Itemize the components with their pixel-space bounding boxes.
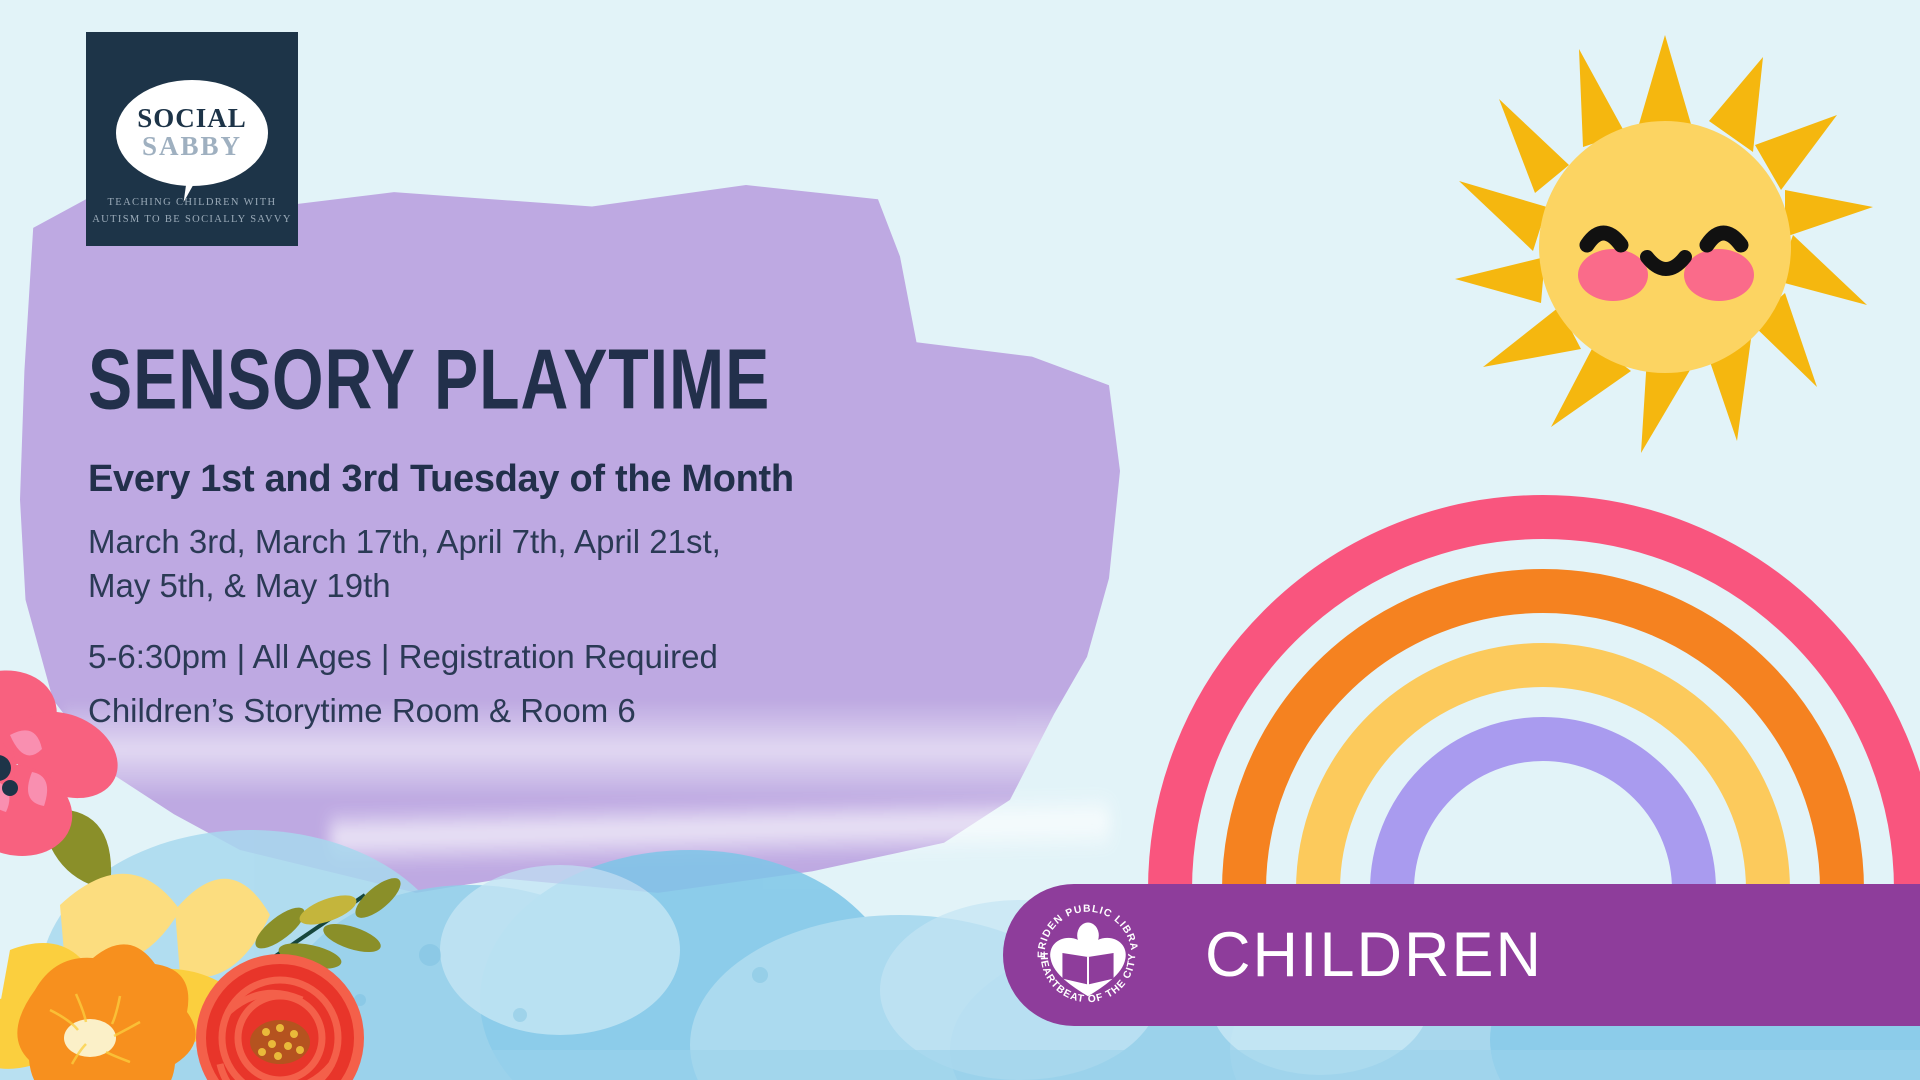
speech-bubble-icon: SOCIAL SABBY [116, 80, 268, 186]
library-seal-icon: MERIDEN PUBLIC LIBRARY HEARTBEAT OF THE … [1029, 896, 1147, 1014]
event-dates-line1: March 3rd, March 17th, April 7th, April … [88, 520, 721, 564]
sun-illustration [1455, 35, 1875, 455]
sun-icon [1455, 35, 1875, 455]
sun-cheek-left [1578, 249, 1648, 301]
category-label: CHILDREN [1205, 919, 1543, 991]
event-location: Children’s Storytime Room & Room 6 [88, 692, 636, 730]
logo-word-social: SOCIAL [137, 105, 247, 132]
category-banner: MERIDEN PUBLIC LIBRARY HEARTBEAT OF THE … [1003, 884, 1920, 1026]
event-dates: March 3rd, March 17th, April 7th, April … [88, 520, 721, 607]
poster-canvas: SOCIAL SABBY TEACHING CHILDREN WITH AUTI… [0, 0, 1920, 1080]
library-seal-logo: MERIDEN PUBLIC LIBRARY HEARTBEAT OF THE … [1029, 896, 1147, 1014]
sun-cheek-right [1684, 249, 1754, 301]
seal-book-spine [1087, 957, 1089, 987]
logo-word-sabby: SABBY [142, 132, 242, 160]
event-details: 5-6:30pm | All Ages | Registration Requi… [88, 638, 718, 676]
event-title: SENSORY PLAYTIME [88, 340, 770, 421]
rose-flower [196, 954, 364, 1080]
logo-tagline-line2: AUTISM TO BE SOCIALLY SAVVY [86, 212, 298, 228]
logo-tagline-line1: TEACHING CHILDREN WITH [86, 195, 298, 211]
logo-tagline: TEACHING CHILDREN WITH AUTISM TO BE SOCI… [86, 195, 298, 228]
event-dates-line2: May 5th, & May 19th [88, 564, 721, 608]
event-schedule: Every 1st and 3rd Tuesday of the Month [88, 458, 794, 501]
sun-face [1539, 121, 1791, 373]
social-sabby-logo: SOCIAL SABBY TEACHING CHILDREN WITH AUTI… [86, 32, 298, 246]
